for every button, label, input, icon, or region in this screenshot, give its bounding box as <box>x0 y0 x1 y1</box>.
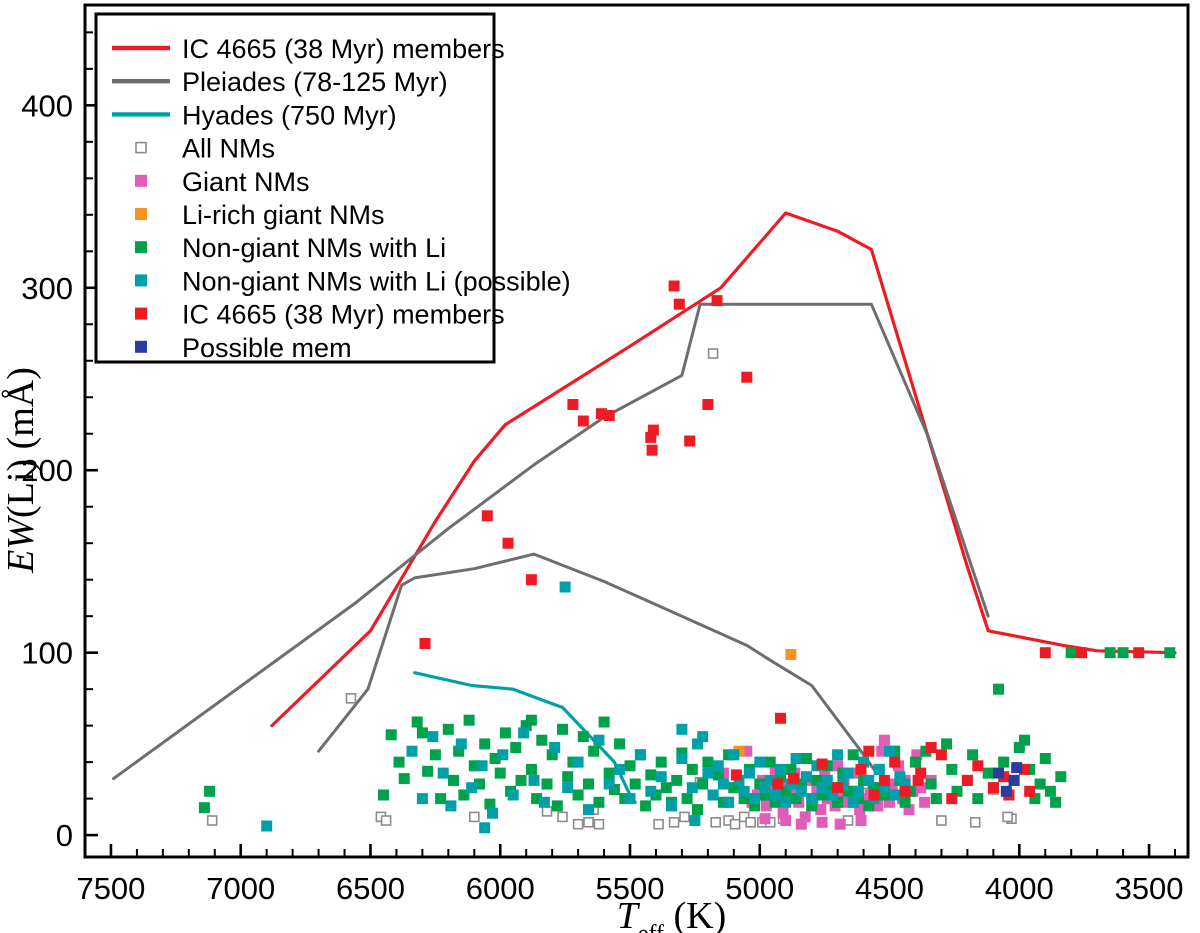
marker-square <box>399 773 410 784</box>
marker-square <box>417 727 428 738</box>
marker-square <box>889 757 900 768</box>
legend-entry-label: Non-giant NMs with Li <box>182 233 446 263</box>
marker-square <box>599 717 610 728</box>
marker-square <box>1066 647 1077 658</box>
marker-square <box>739 786 750 797</box>
marker-square <box>552 800 563 811</box>
legend-entry-label: Possible mem <box>182 333 352 363</box>
x-tick-label: 6000 <box>466 871 535 906</box>
marker-square <box>518 727 529 738</box>
marker-square <box>741 372 752 383</box>
marker-square <box>817 759 828 770</box>
marker-square <box>848 749 859 760</box>
marker-square <box>588 746 599 757</box>
marker-square <box>448 775 459 786</box>
marker-square <box>604 768 615 779</box>
marker-open-square <box>937 816 946 825</box>
marker-square <box>879 735 890 746</box>
marker-open-square <box>470 812 479 821</box>
marker-square <box>863 746 874 757</box>
marker-square <box>593 735 604 746</box>
marker-square <box>497 749 508 760</box>
marker-square <box>635 749 646 760</box>
marker-square <box>604 779 615 790</box>
legend-square-swatch <box>135 308 147 320</box>
legend-entry-label: All NMs <box>182 134 275 164</box>
marker-square <box>884 746 895 757</box>
x-tick-label: 7500 <box>76 871 145 906</box>
marker-square <box>972 793 983 804</box>
marker-square <box>261 821 272 832</box>
legend-entry-label: Giant NMs <box>182 167 310 197</box>
marker-square <box>946 764 957 775</box>
marker-square <box>941 738 952 749</box>
marker-square <box>614 764 625 775</box>
marker-square <box>806 793 817 804</box>
marker-square <box>647 445 658 456</box>
marker-square <box>487 808 498 819</box>
marker-square <box>765 757 776 768</box>
marker-square <box>593 797 604 808</box>
marker-square <box>1118 647 1129 658</box>
marker-square <box>386 729 397 740</box>
marker-square <box>702 768 713 779</box>
marker-square <box>562 771 573 782</box>
x-tick-label: 7000 <box>206 871 275 906</box>
marker-square <box>578 416 589 427</box>
marker-square <box>562 782 573 793</box>
marker-square <box>412 717 423 728</box>
marker-open-square <box>711 818 720 827</box>
marker-square <box>962 775 973 786</box>
marker-square <box>1055 771 1066 782</box>
marker-square <box>843 768 854 779</box>
marker-open-square <box>971 818 980 827</box>
marker-square <box>560 582 571 593</box>
marker-square <box>539 797 550 808</box>
marker-square <box>1024 786 1035 797</box>
marker-square <box>604 410 615 421</box>
marker-square <box>967 749 978 760</box>
marker-square <box>1035 779 1046 790</box>
legend-entry-label: Non-giant NMs with Li (possible) <box>182 266 571 296</box>
marker-square <box>913 775 924 786</box>
y-tick-label: 100 <box>21 636 73 671</box>
marker-square <box>863 775 874 786</box>
marker-open-square <box>1003 812 1012 821</box>
marker-square <box>874 764 885 775</box>
y-axis-label: EW(Li) (mÅ) <box>0 367 42 574</box>
marker-square <box>676 724 687 735</box>
marker-open-square <box>574 820 583 829</box>
marker-square <box>832 749 843 760</box>
marker-square <box>645 769 656 780</box>
marker-square <box>479 738 490 749</box>
marker-square <box>856 815 867 826</box>
marker-open-square <box>746 818 755 827</box>
marker-square <box>542 779 553 790</box>
marker-square <box>702 757 713 768</box>
marker-square <box>926 742 937 753</box>
marker-square <box>573 757 584 768</box>
marker-square <box>926 779 937 790</box>
marker-square <box>394 757 405 768</box>
marker-square <box>422 766 433 777</box>
marker-square <box>801 771 812 782</box>
marker-square <box>529 775 540 786</box>
marker-square <box>780 815 791 826</box>
marker-square <box>1050 797 1061 808</box>
marker-square <box>557 724 568 735</box>
marker-square <box>516 775 527 786</box>
legend-entry-label: Pleiades (78-125 Myr) <box>182 67 448 97</box>
marker-square <box>1164 647 1175 658</box>
marker-square <box>500 727 511 738</box>
x-tick-label: 4000 <box>985 871 1054 906</box>
marker-square <box>669 281 680 292</box>
marker-square <box>879 775 890 786</box>
marker-open-square <box>347 694 356 703</box>
marker-square <box>1001 786 1012 797</box>
marker-square <box>682 793 693 804</box>
marker-square <box>713 760 724 771</box>
marker-square <box>832 782 843 793</box>
marker-square <box>788 773 799 784</box>
x-tick-label: 3500 <box>1115 871 1184 906</box>
marker-square <box>578 731 589 742</box>
marker-open-square <box>584 818 593 827</box>
marker-square <box>702 399 713 410</box>
marker-square <box>1040 753 1051 764</box>
legend-entry-8[interactable]: IC 4665 (38 Myr) members <box>135 300 505 330</box>
marker-square <box>712 295 723 306</box>
marker-square <box>796 819 807 830</box>
marker-square <box>835 819 846 830</box>
legend-square-swatch <box>135 241 147 253</box>
marker-square <box>988 782 999 793</box>
legend-square-swatch <box>135 341 147 353</box>
marker-square <box>708 790 719 801</box>
marker-square <box>919 797 930 808</box>
legend-open-square-swatch <box>136 143 146 153</box>
marker-square <box>435 793 446 804</box>
marker-square <box>718 779 729 790</box>
marker-square <box>640 800 651 811</box>
marker-square <box>770 790 781 801</box>
marker-square <box>676 753 687 764</box>
marker-square <box>378 790 389 801</box>
marker-square <box>648 425 659 436</box>
marker-square <box>1133 647 1144 658</box>
marker-square <box>780 797 791 808</box>
marker-square <box>625 760 636 771</box>
marker-square <box>482 510 493 521</box>
legend-square-swatch <box>135 208 147 220</box>
marker-square <box>1009 775 1020 786</box>
marker-square <box>817 817 828 828</box>
marker-square <box>430 749 441 760</box>
marker-square <box>993 684 1004 695</box>
figure-root: 750070006500600055005000450040003500 010… <box>0 0 1200 933</box>
marker-square <box>427 731 438 742</box>
marker-square <box>549 742 560 753</box>
marker-square <box>503 538 514 549</box>
legend-entry-label: IC 4665 (38 Myr) members <box>182 300 505 330</box>
marker-square <box>772 779 783 790</box>
marker-square <box>760 813 771 824</box>
marker-square <box>583 804 594 815</box>
marker-square <box>697 779 708 790</box>
marker-square <box>625 793 636 804</box>
marker-square <box>526 764 537 775</box>
marker-square <box>689 815 700 826</box>
marker-open-square <box>731 820 740 829</box>
marker-square <box>536 735 547 746</box>
marker-square <box>684 436 695 447</box>
marker-square <box>848 797 859 808</box>
marker-square <box>508 790 519 801</box>
marker-square <box>1040 647 1051 658</box>
legend-entry-6[interactable]: Non-giant NMs with Li <box>135 233 446 263</box>
x-tick-label: 5000 <box>725 871 794 906</box>
marker-square <box>466 782 477 793</box>
marker-square <box>946 793 957 804</box>
marker-square <box>456 738 467 749</box>
marker-square <box>856 764 867 775</box>
marker-square <box>692 738 703 749</box>
marker-square <box>630 779 641 790</box>
scatter-plot: 750070006500600055005000450040003500 010… <box>0 0 1200 933</box>
y-tick-label: 300 <box>21 271 73 306</box>
marker-square <box>791 753 802 764</box>
marker-square <box>1019 735 1030 746</box>
marker-square <box>445 800 456 811</box>
marker-square <box>1076 647 1087 658</box>
marker-square <box>495 768 506 779</box>
marker-square <box>723 797 734 808</box>
marker-square <box>438 768 449 779</box>
marker-square <box>692 804 703 815</box>
marker-open-square <box>709 349 718 358</box>
marker-square <box>728 749 739 760</box>
marker-square <box>910 757 921 768</box>
x-axis-label: Teff (K) <box>617 895 727 933</box>
marker-square <box>869 790 880 801</box>
marker-square <box>656 757 667 768</box>
marker-square <box>645 786 656 797</box>
marker-square <box>464 715 475 726</box>
legend-square-swatch <box>135 274 147 286</box>
marker-square <box>671 775 682 786</box>
marker-square <box>510 742 521 753</box>
marker-square <box>614 738 625 749</box>
marker-square <box>889 790 900 801</box>
marker-square <box>936 749 947 760</box>
marker-open-square <box>594 820 603 829</box>
marker-square <box>567 399 578 410</box>
marker-square <box>420 638 431 649</box>
marker-open-square <box>543 807 552 816</box>
marker-square <box>526 574 537 585</box>
legend-entry-7[interactable]: Non-giant NMs with Li (possible) <box>135 266 571 296</box>
marker-square <box>1011 762 1022 773</box>
marker-square <box>998 757 1009 768</box>
marker-square <box>583 779 594 790</box>
marker-open-square <box>654 820 663 829</box>
marker-square <box>674 299 685 310</box>
marker-square <box>687 782 698 793</box>
marker-square <box>744 768 755 779</box>
x-tick-label: 6500 <box>336 871 405 906</box>
marker-square <box>526 715 537 726</box>
marker-square <box>1105 647 1116 658</box>
marker-square <box>931 793 942 804</box>
marker-square <box>785 649 796 660</box>
marker-open-square <box>680 812 689 821</box>
marker-open-square <box>670 818 679 827</box>
marker-square <box>801 753 812 764</box>
marker-square <box>731 769 742 780</box>
marker-square <box>661 782 672 793</box>
marker-open-square <box>208 816 217 825</box>
legend-entry-label: IC 4665 (38 Myr) members <box>182 34 505 64</box>
marker-square <box>477 760 488 771</box>
marker-square <box>749 793 760 804</box>
marker-square <box>900 797 911 808</box>
marker-square <box>407 746 418 757</box>
marker-square <box>573 790 584 801</box>
marker-square <box>993 768 1004 779</box>
marker-square <box>796 786 807 797</box>
marker-square <box>754 757 765 768</box>
legend-entry-label: Li-rich giant NMs <box>182 200 385 230</box>
x-tick-label: 4500 <box>855 871 924 906</box>
marker-square <box>479 822 490 833</box>
marker-square <box>775 764 786 775</box>
marker-square <box>853 786 864 797</box>
legend-entry-label: Hyades (750 Myr) <box>182 100 397 130</box>
marker-square <box>972 760 983 771</box>
marker-square <box>983 768 994 779</box>
marker-open-square <box>558 812 567 821</box>
y-tick-label: 0 <box>56 818 73 853</box>
marker-square <box>417 793 428 804</box>
marker-square <box>775 713 786 724</box>
marker-square <box>204 786 215 797</box>
marker-square <box>666 800 677 811</box>
marker-square <box>1045 786 1056 797</box>
marker-square <box>199 802 210 813</box>
legend-square-swatch <box>135 175 147 187</box>
marker-square <box>687 764 698 775</box>
marker-square <box>443 724 454 735</box>
y-tick-label: 400 <box>21 88 73 123</box>
marker-square <box>656 771 667 782</box>
marker-square <box>900 786 911 797</box>
marker-open-square <box>382 816 391 825</box>
marker-square <box>822 775 833 786</box>
